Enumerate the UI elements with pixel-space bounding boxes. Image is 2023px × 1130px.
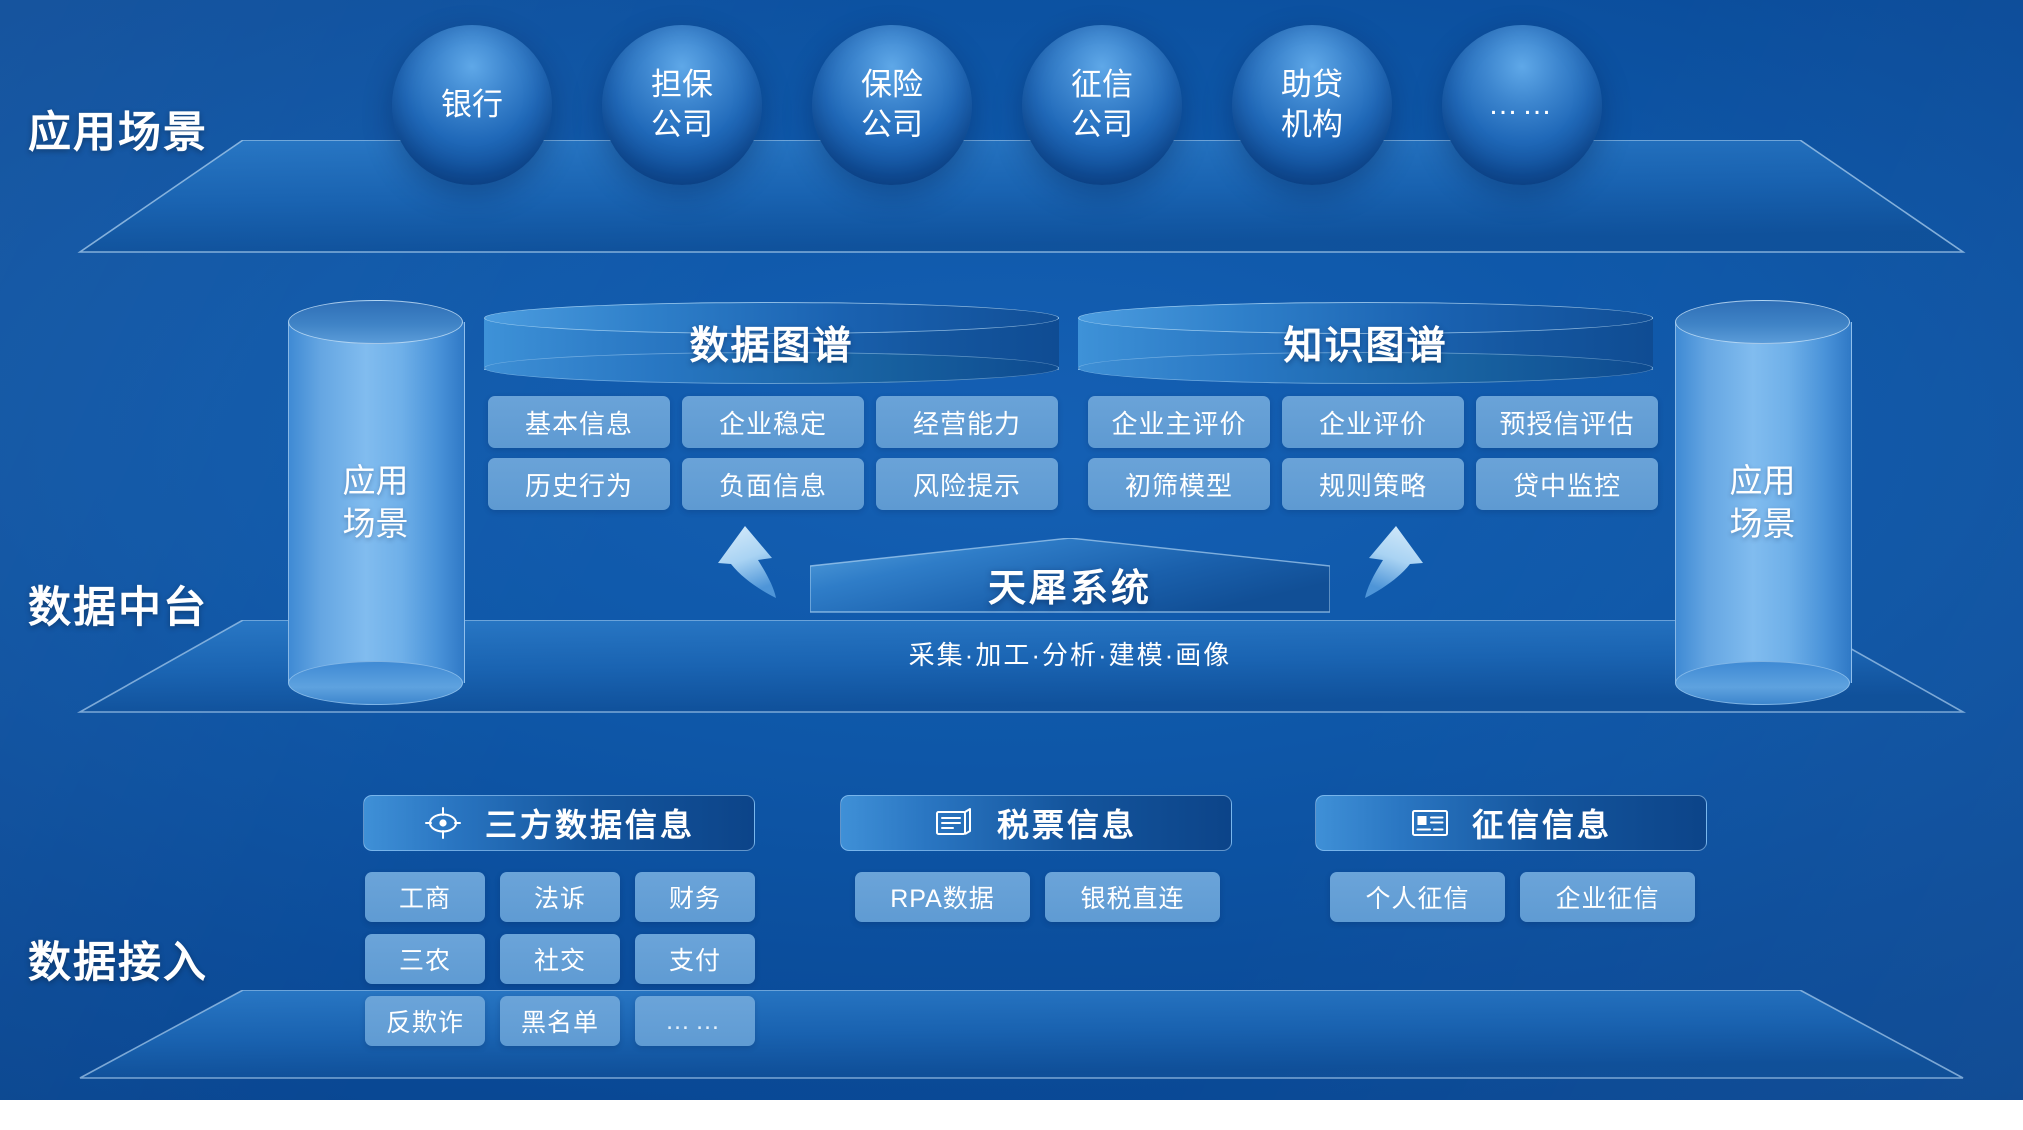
core-system-subtitle: 采集·加工·分析·建模·画像 <box>810 635 1330 672</box>
sphere-line: 银行 <box>441 85 503 125</box>
section-label-data-middle-platform: 数据中台 <box>28 573 208 635</box>
scenario-sphere-insurance-company[interactable]: 保险 公司 <box>812 25 972 185</box>
bottom-white-strip <box>0 1100 2023 1130</box>
knowledge-graph-chip-enterprise-evaluation[interactable]: 企业评价 <box>1282 396 1464 448</box>
invoice-icon <box>935 803 975 843</box>
tax-chip-bank-tax-direct-link[interactable]: 银税直连 <box>1045 872 1220 922</box>
third-party-chip-more[interactable]: …… <box>635 996 755 1046</box>
sphere-line-ellipsis: …… <box>1488 86 1556 124</box>
sphere-line: 机构 <box>1281 105 1343 145</box>
credit-chip-enterprise-credit[interactable]: 企业征信 <box>1520 872 1695 922</box>
core-system-banner[interactable]: 天犀系统 <box>810 538 1330 616</box>
scenario-sphere-guarantee-company[interactable]: 担保 公司 <box>602 25 762 185</box>
tax-invoice-data-header[interactable]: 税票信息 <box>840 795 1232 851</box>
third-party-data-header[interactable]: 三方数据信息 <box>363 795 755 851</box>
left-curved-arrow-icon <box>698 518 823 630</box>
section-label-application-scenario: 应用场景 <box>28 98 208 160</box>
third-party-data-title: 三方数据信息 <box>485 800 695 846</box>
tax-chip-rpa-data[interactable]: RPA数据 <box>855 872 1030 922</box>
scenario-sphere-credit-company[interactable]: 征信 公司 <box>1022 25 1182 185</box>
knowledge-graph-chip-owner-evaluation[interactable]: 企业主评价 <box>1088 396 1270 448</box>
cylinder-label-line: 应用 <box>1730 460 1796 503</box>
right-cylinder-label: 应用 场景 <box>1675 300 1850 705</box>
sphere-line: 公司 <box>651 105 713 145</box>
third-party-chip-agriculture[interactable]: 三农 <box>365 934 485 984</box>
data-graph-chip-risk-alert[interactable]: 风险提示 <box>876 458 1058 510</box>
data-graph-title: 数据图谱 <box>484 302 1059 384</box>
left-application-scenario-cylinder: 应用 场景 <box>288 300 463 705</box>
right-curved-arrow-icon <box>1318 518 1443 630</box>
data-graph-chip-negative-info[interactable]: 负面信息 <box>682 458 864 510</box>
knowledge-graph-chip-in-loan-monitoring[interactable]: 贷中监控 <box>1476 458 1658 510</box>
data-graph-chip-basic-info[interactable]: 基本信息 <box>488 396 670 448</box>
left-cylinder-label: 应用 场景 <box>288 300 463 705</box>
scenario-sphere-loan-facilitation[interactable]: 助贷 机构 <box>1232 25 1392 185</box>
tax-invoice-data-title: 税票信息 <box>997 800 1137 846</box>
sphere-line: 征信 <box>1071 65 1133 105</box>
credit-report-data-header[interactable]: 征信信息 <box>1315 795 1707 851</box>
knowledge-graph-chip-screening-model[interactable]: 初筛模型 <box>1088 458 1270 510</box>
sphere-line: 助贷 <box>1281 65 1343 105</box>
credit-report-data-title: 征信信息 <box>1472 800 1612 846</box>
third-party-chip-litigation[interactable]: 法诉 <box>500 872 620 922</box>
scenario-sphere-bank[interactable]: 银行 <box>392 25 552 185</box>
cylinder-label-line: 场景 <box>343 503 409 546</box>
right-application-scenario-cylinder: 应用 场景 <box>1675 300 1850 705</box>
id-card-icon <box>1410 803 1450 843</box>
sphere-line: 担保 <box>651 65 713 105</box>
third-party-chip-finance[interactable]: 财务 <box>635 872 755 922</box>
credit-chip-personal-credit[interactable]: 个人征信 <box>1330 872 1505 922</box>
sphere-line: 保险 <box>861 65 923 105</box>
section-label-data-access: 数据接入 <box>28 928 208 990</box>
cylinder-label-line: 场景 <box>1730 503 1796 546</box>
third-party-chip-blacklist[interactable]: 黑名单 <box>500 996 620 1046</box>
knowledge-graph-chip-pre-credit-assessment[interactable]: 预授信评估 <box>1476 396 1658 448</box>
data-graph-chip-historical-behavior[interactable]: 历史行为 <box>488 458 670 510</box>
third-party-chip-business-registration[interactable]: 工商 <box>365 872 485 922</box>
cylinder-label-line: 应用 <box>343 460 409 503</box>
knowledge-graph-chip-rule-strategy[interactable]: 规则策略 <box>1282 458 1464 510</box>
sphere-line: 公司 <box>861 105 923 145</box>
scenario-sphere-more[interactable]: …… <box>1442 25 1602 185</box>
third-party-chip-payment[interactable]: 支付 <box>635 934 755 984</box>
knowledge-graph-disc[interactable]: 知识图谱 <box>1078 302 1653 384</box>
access-platform-slab <box>0 990 2023 1100</box>
target-crosshair-icon <box>423 803 463 843</box>
architecture-diagram: 应用场景 数据中台 数据接入 银行 担保 公司 保险 公司 征信 公司 助贷 机… <box>0 0 2023 1130</box>
data-graph-disc[interactable]: 数据图谱 <box>484 302 1059 384</box>
third-party-chip-anti-fraud[interactable]: 反欺诈 <box>365 996 485 1046</box>
application-platform-slab <box>0 140 2023 260</box>
third-party-chip-social[interactable]: 社交 <box>500 934 620 984</box>
data-graph-chip-enterprise-stability[interactable]: 企业稳定 <box>682 396 864 448</box>
knowledge-graph-title: 知识图谱 <box>1078 302 1653 384</box>
core-system-title: 天犀系统 <box>810 538 1330 616</box>
data-graph-chip-operating-capability[interactable]: 经营能力 <box>876 396 1058 448</box>
sphere-line: 公司 <box>1071 105 1133 145</box>
